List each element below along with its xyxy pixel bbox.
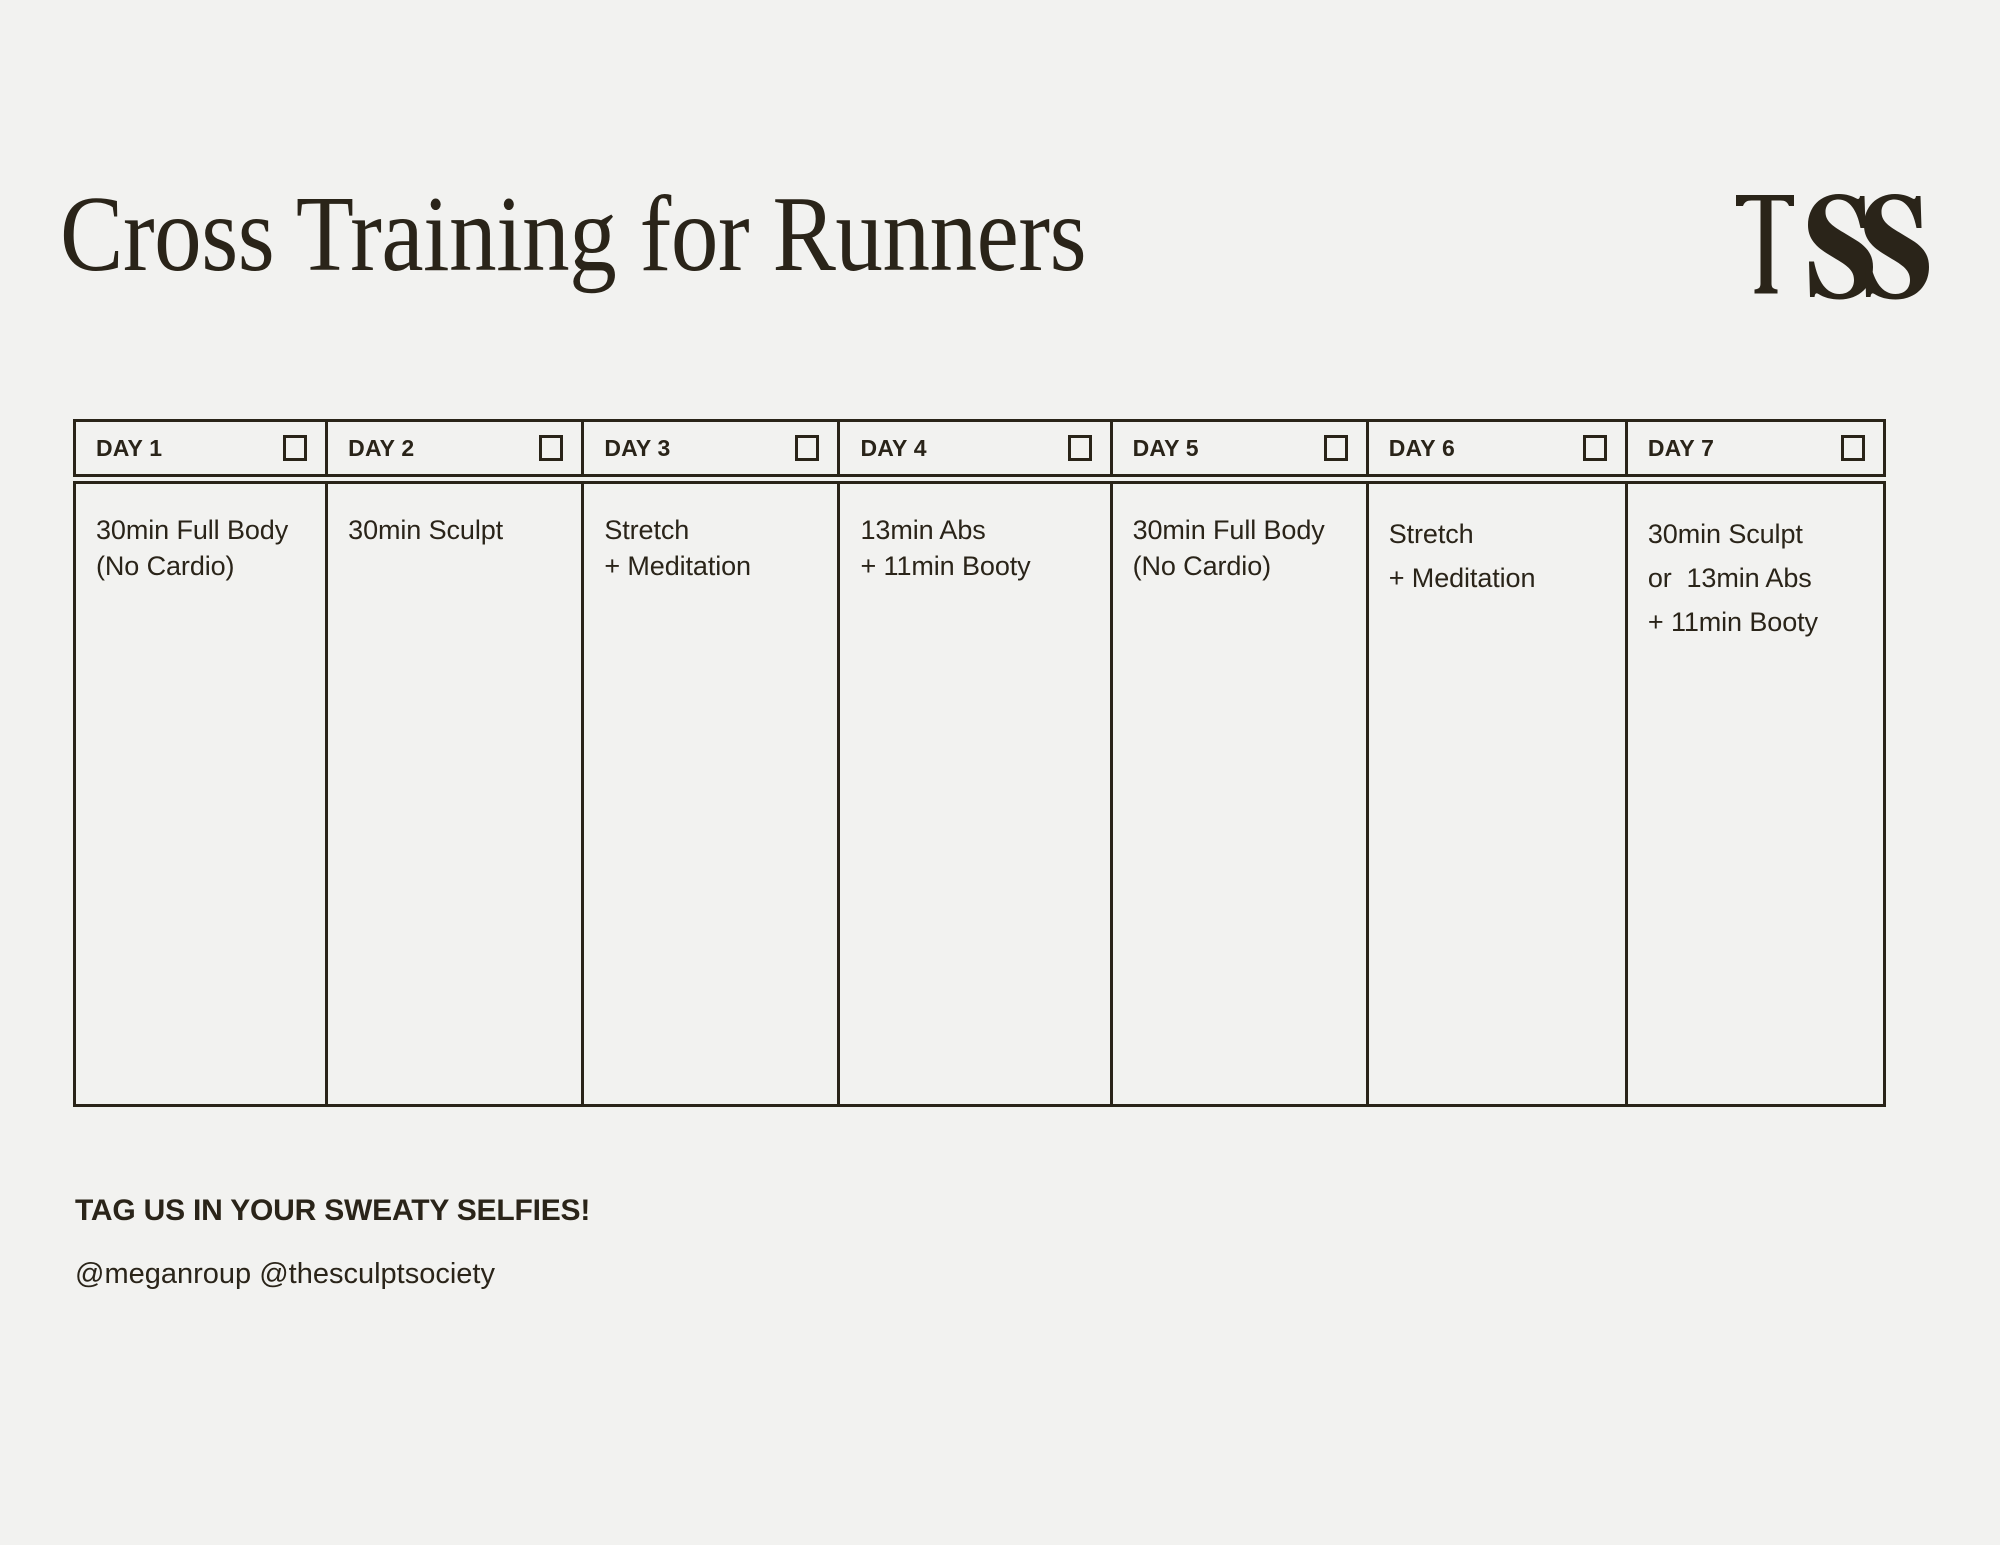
page-header: Cross Training for Runners [60, 175, 1940, 310]
day-label-4: DAY 4 [860, 435, 926, 462]
workout-line: 30min Sculpt [348, 512, 567, 548]
workout-line: or 13min Abs [1648, 556, 1869, 600]
schedule-body-row: 30min Full Body (No Cardio) 30min Sculpt… [73, 481, 1886, 1107]
page-footer: TAG US IN YOUR SWEATY SELFIES! @meganrou… [75, 1192, 590, 1292]
day-header-2: DAY 2 [328, 422, 584, 474]
workout-line: 30min Sculpt [1648, 512, 1869, 556]
day-checkbox-7[interactable] [1841, 435, 1865, 461]
day-label-1: DAY 1 [96, 435, 162, 462]
workout-line: 30min Full Body [96, 512, 311, 548]
workout-line: Stretch [604, 512, 823, 548]
day-label-3: DAY 3 [604, 435, 670, 462]
day-label-2: DAY 2 [348, 435, 414, 462]
day-checkbox-3[interactable] [795, 435, 819, 461]
day-cell-6: Stretch + Meditation [1369, 484, 1628, 1104]
workout-line: 13min Abs [860, 512, 1095, 548]
workout-line: + Meditation [1389, 556, 1611, 600]
day-label-7: DAY 7 [1648, 435, 1714, 462]
day-checkbox-4[interactable] [1068, 435, 1092, 461]
tss-monogram-logo [1730, 181, 1930, 311]
day-header-6: DAY 6 [1369, 422, 1628, 474]
workout-line: + 11min Booty [860, 548, 1095, 584]
day-header-1: DAY 1 [76, 422, 328, 474]
day-cell-5: 30min Full Body (No Cardio) [1113, 484, 1369, 1104]
workout-line: 30min Full Body [1133, 512, 1352, 548]
day-label-6: DAY 6 [1389, 435, 1455, 462]
schedule-header-row: DAY 1 DAY 2 DAY 3 DAY 4 DAY 5 DAY 6 [73, 419, 1886, 477]
day-header-4: DAY 4 [840, 422, 1112, 474]
weekly-schedule-table: DAY 1 DAY 2 DAY 3 DAY 4 DAY 5 DAY 6 [73, 419, 1886, 1107]
footer-social-handles: @meganroup @thesculptsociety [75, 1256, 590, 1292]
day-header-7: DAY 7 [1628, 422, 1883, 474]
day-header-5: DAY 5 [1113, 422, 1369, 474]
day-checkbox-2[interactable] [539, 435, 563, 461]
day-checkbox-6[interactable] [1583, 435, 1607, 461]
day-cell-4: 13min Abs + 11min Booty [840, 484, 1112, 1104]
workout-plan-page: Cross Training for Runners DAY 1 [0, 0, 2000, 1545]
day-checkbox-5[interactable] [1324, 435, 1348, 461]
footer-heading: TAG US IN YOUR SWEATY SELFIES! [75, 1192, 590, 1230]
workout-line: + Meditation [604, 548, 823, 584]
workout-line: (No Cardio) [96, 548, 311, 584]
day-cell-1: 30min Full Body (No Cardio) [76, 484, 328, 1104]
workout-line: Stretch [1389, 512, 1611, 556]
day-cell-2: 30min Sculpt [328, 484, 584, 1104]
day-header-3: DAY 3 [584, 422, 840, 474]
day-label-5: DAY 5 [1133, 435, 1199, 462]
workout-line: (No Cardio) [1133, 548, 1352, 584]
day-cell-3: Stretch + Meditation [584, 484, 840, 1104]
workout-line: + 11min Booty [1648, 600, 1869, 644]
page-title: Cross Training for Runners [60, 175, 1086, 295]
day-checkbox-1[interactable] [283, 435, 307, 461]
day-cell-7: 30min Sculpt or 13min Abs + 11min Booty [1628, 484, 1883, 1104]
